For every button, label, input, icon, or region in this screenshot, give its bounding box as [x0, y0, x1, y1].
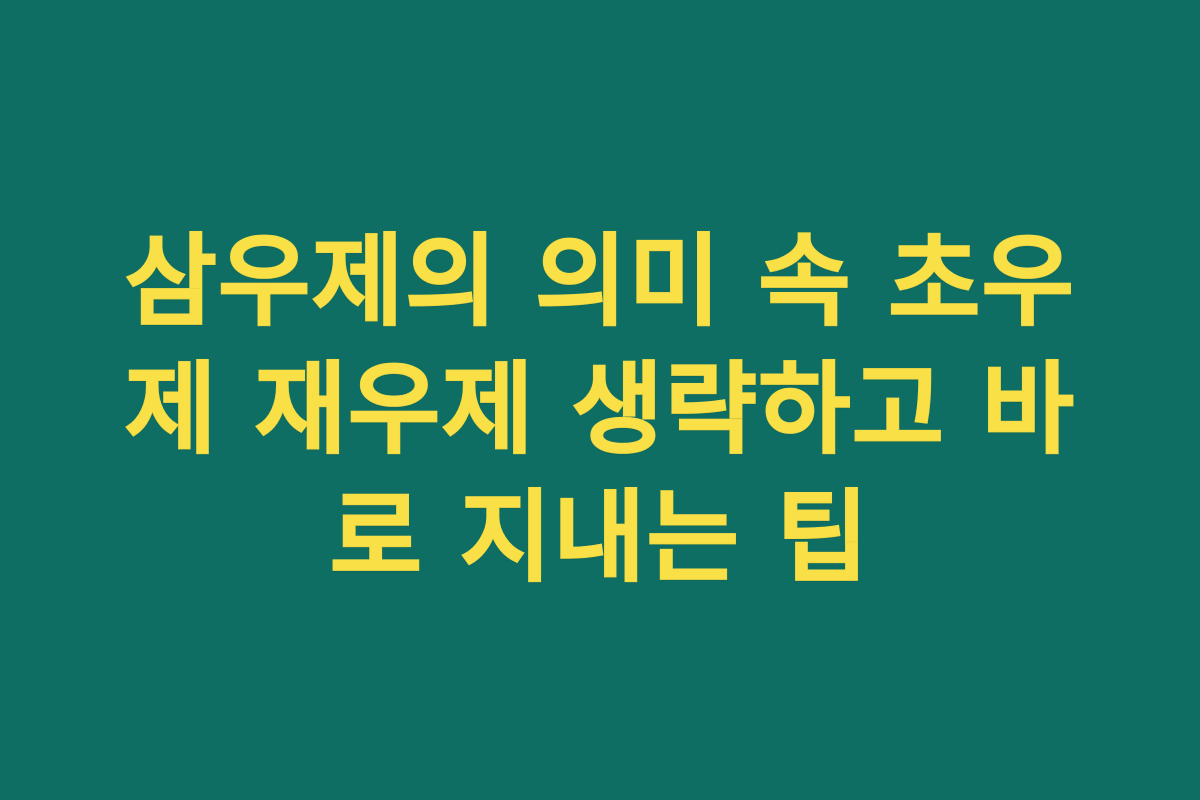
page-title: 삼우제의 의미 속 초우 제 재우제 생략하고 바 로 지내는 팁	[124, 218, 1076, 602]
title-card: 삼우제의 의미 속 초우 제 재우제 생략하고 바 로 지내는 팁	[0, 0, 1200, 800]
title-line-1: 삼우제의 의미 속 초우	[124, 218, 1076, 346]
title-line-2: 제 재우제 생략하고 바	[124, 346, 1076, 474]
title-line-3: 로 지내는 팁	[124, 474, 1076, 602]
